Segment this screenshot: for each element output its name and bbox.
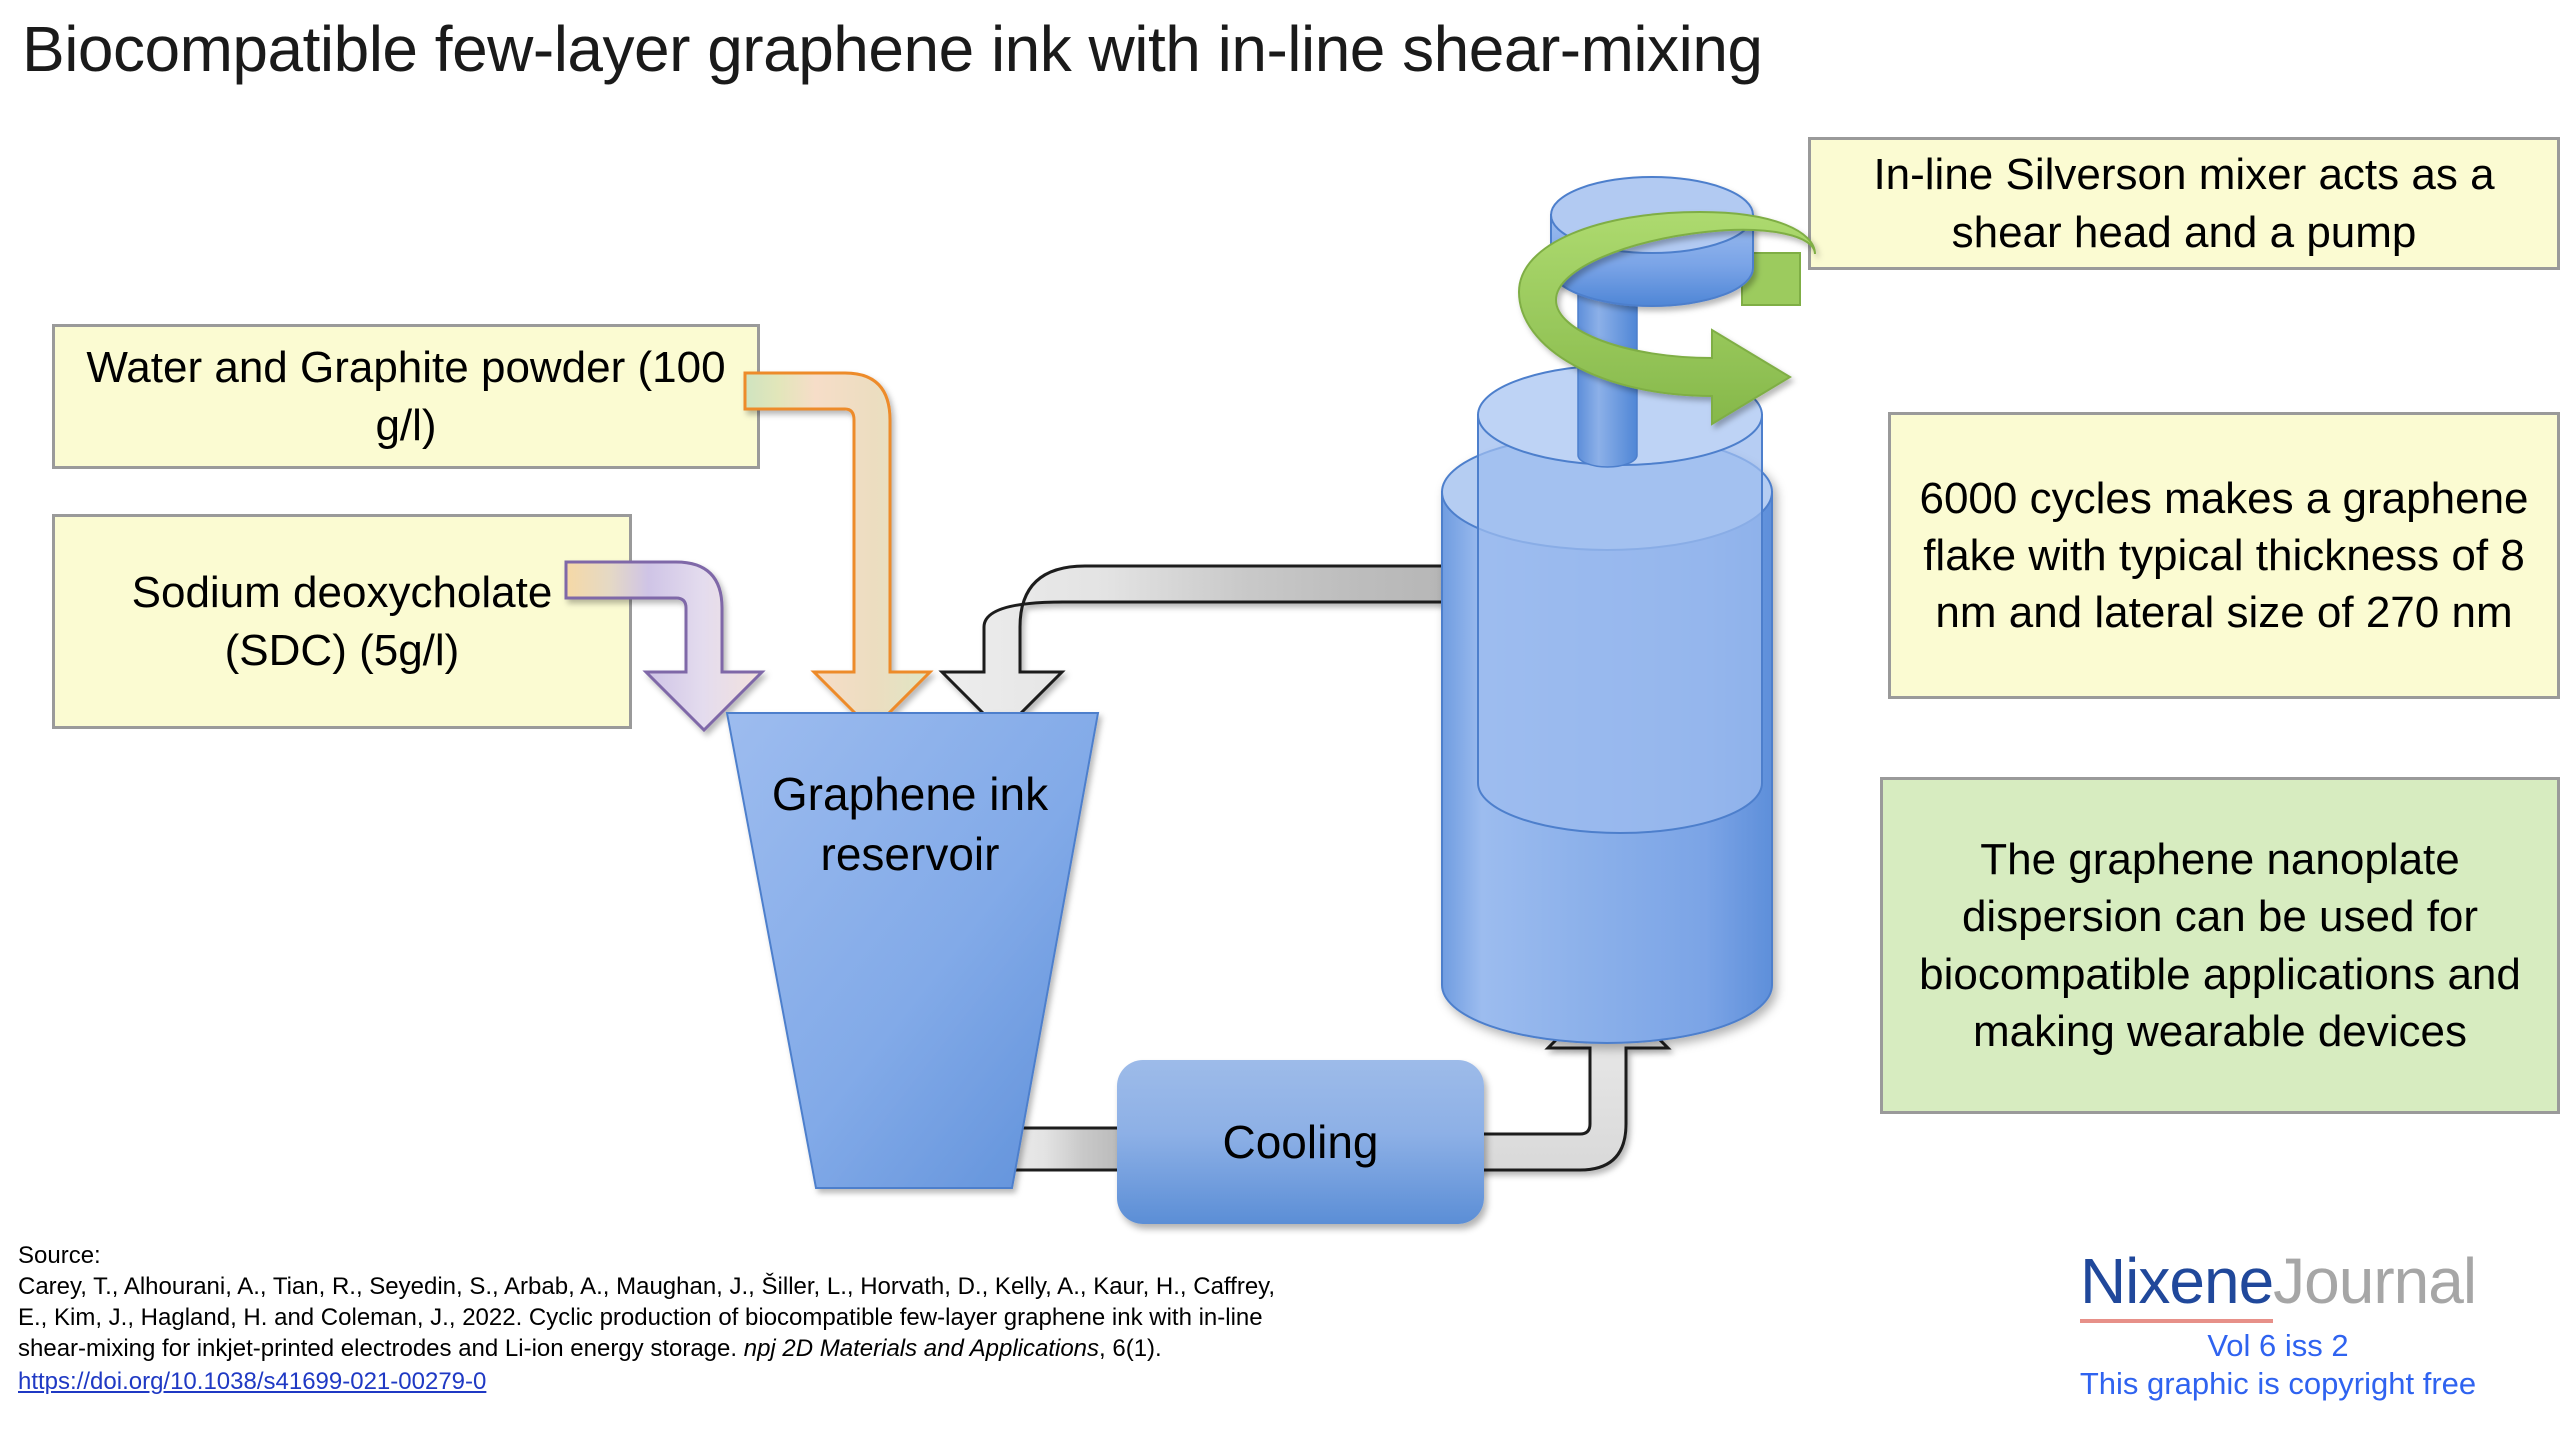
diagram-graphics-back	[0, 0, 2560, 1440]
infographic-canvas: Biocompatible few-layer graphene ink wit…	[0, 0, 2560, 1440]
return-pipe-arrow	[942, 566, 1490, 732]
sdc-feed-arrow	[566, 562, 762, 730]
cooling-unit: Cooling	[1117, 1060, 1484, 1224]
cooling-label: Cooling	[1223, 1115, 1379, 1169]
graphene-ink-reservoir-shape	[727, 713, 1098, 1188]
water-feed-arrow	[745, 373, 930, 730]
